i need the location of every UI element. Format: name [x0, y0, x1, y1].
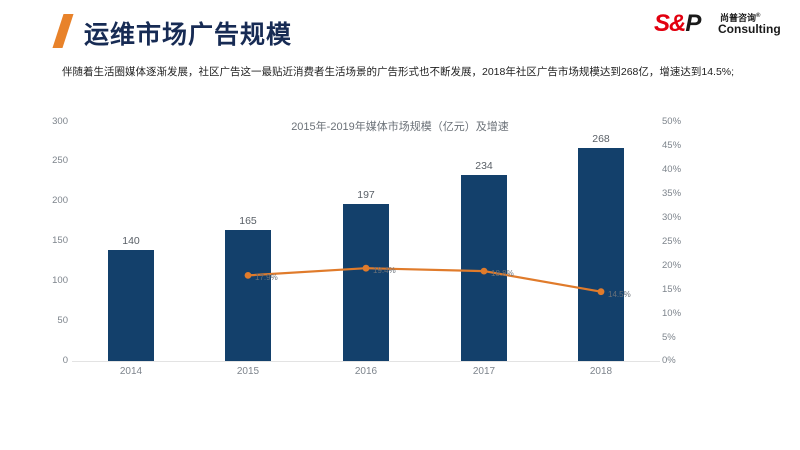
x-axis-tick-2016: 2016: [326, 366, 406, 378]
x-axis-tick-2015: 2015: [208, 366, 288, 378]
plot-area: 140 165 197 234 268 17.9% 19.4% 18.8% 14…: [72, 122, 660, 361]
y-axis-right-tick: 0%: [662, 356, 702, 366]
company-logo: S&P 尚普咨询® Consulting: [654, 10, 782, 44]
x-axis-line: [72, 361, 660, 362]
slide-root: 运维市场广告规模 S&P 尚普咨询® Consulting 伴随着生活圈媒体逐渐…: [0, 0, 800, 450]
registered-mark-icon: ®: [756, 13, 760, 19]
y-axis-right-tick: 15%: [662, 285, 702, 295]
accent-slash-icon: [52, 14, 73, 48]
page-title: 运维市场广告规模: [84, 15, 292, 51]
y-axis-left-tick: 200: [28, 196, 68, 206]
logo-sp-dark: P: [685, 10, 700, 37]
y-axis-left-tick: 300: [28, 117, 68, 127]
logo-sp-mark: S&P: [654, 12, 700, 36]
y-axis-right-tick: 40%: [662, 165, 702, 175]
y-axis-right-tick: 45%: [662, 141, 702, 151]
y-axis-left-tick: 100: [28, 276, 68, 286]
subtitle-text: 伴随着生活圈媒体逐渐发展，社区广告这一最贴近消费者生活场景的广告形式也不断发展，…: [62, 64, 762, 80]
growth-value-label: 14.5%: [608, 290, 631, 299]
y-axis-left-tick: 150: [28, 236, 68, 246]
slide-header: 运维市场广告规模 S&P 尚普咨询® Consulting: [0, 0, 800, 56]
line-marker-2016: [363, 265, 370, 272]
logo-english-name: Consulting: [718, 23, 781, 36]
y-axis-right-tick: 25%: [662, 237, 702, 247]
growth-line-series: [72, 122, 660, 361]
line-marker-2018: [598, 288, 605, 295]
x-axis-tick-2018: 2018: [561, 366, 641, 378]
x-axis-tick-2014: 2014: [91, 366, 171, 378]
growth-value-label: 17.9%: [255, 273, 278, 282]
y-axis-right-tick: 30%: [662, 213, 702, 223]
line-marker-2015: [245, 272, 252, 279]
y-axis-right-tick: 20%: [662, 261, 702, 271]
y-axis-right-tick: 5%: [662, 333, 702, 343]
y-axis-left-tick: 0: [28, 356, 68, 366]
y-axis-right-tick: 10%: [662, 309, 702, 319]
y-axis-right-tick: 50%: [662, 117, 702, 127]
line-marker-2017: [481, 268, 488, 275]
growth-value-label: 18.8%: [491, 269, 514, 278]
y-axis-left-tick: 50: [28, 316, 68, 326]
y-axis-right-tick: 35%: [662, 189, 702, 199]
growth-value-label: 19.4%: [373, 266, 396, 275]
growth-line-path: [248, 268, 601, 292]
x-axis-tick-2017: 2017: [444, 366, 524, 378]
logo-sp-red: S&: [654, 10, 685, 37]
chart-container: 2015年-2019年媒体市场规模（亿元）及增速 300 250 200 150…: [0, 104, 800, 394]
y-axis-left-tick: 250: [28, 156, 68, 166]
